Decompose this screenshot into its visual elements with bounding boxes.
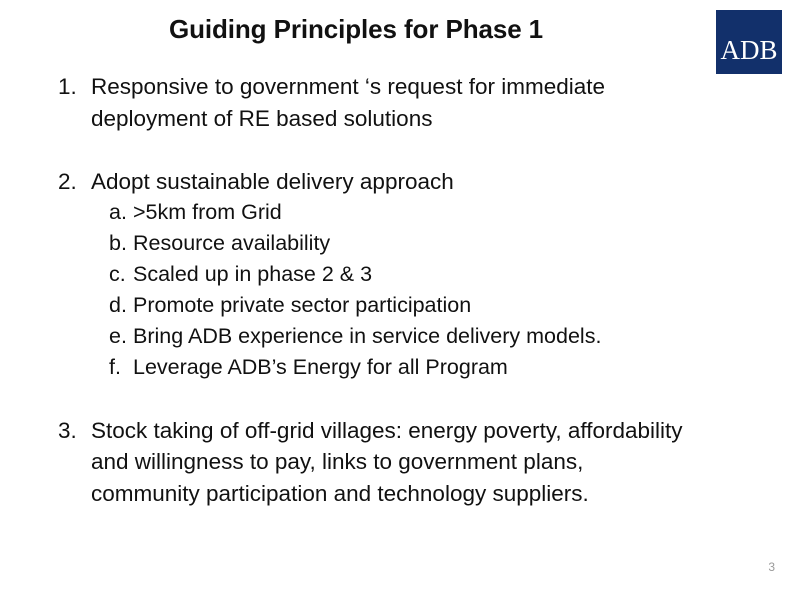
sub-list-item-text: Resource availability [133, 228, 768, 259]
list-item-text: Adopt sustainable delivery approach [91, 166, 768, 198]
sub-list-marker: f. [109, 352, 133, 383]
sub-list-item-text: Leverage ADB’s Energy for all Program [133, 352, 768, 383]
sub-list-marker: b. [109, 228, 133, 259]
list-item-1: 1. Responsive to government ‘s request f… [58, 71, 768, 134]
list-item-line: community participation and technology s… [91, 481, 589, 506]
page-title: Guiding Principles for Phase 1 [0, 14, 712, 45]
sub-list-item-d: d. Promote private sector participation [58, 290, 768, 321]
list-spacer [58, 383, 768, 415]
sub-list-item-text: Bring ADB experience in service delivery… [133, 321, 768, 352]
sub-list-item-e: e. Bring ADB experience in service deliv… [58, 321, 768, 352]
list-spacer [58, 134, 768, 166]
sub-list-item-b: b. Resource availability [58, 228, 768, 259]
sub-list-marker: e. [109, 321, 133, 352]
list-item-text: Stock taking of off-grid villages: energ… [91, 415, 768, 510]
list-item-line: deployment of RE based solutions [91, 106, 432, 131]
list-item-text: Responsive to government ‘s request for … [91, 71, 768, 134]
list-item-line: Responsive to government ‘s request for … [91, 74, 605, 99]
adb-logo: ADB [716, 10, 782, 74]
sub-list-item-2: a. >5km from Grid b. Resource availabili… [58, 197, 768, 383]
sub-list-marker: d. [109, 290, 133, 321]
list-item-line: and willingness to pay, links to governm… [91, 449, 583, 474]
list-marker: 2. [58, 166, 91, 198]
slide-canvas: ADB Guiding Principles for Phase 1 1. Re… [0, 0, 800, 600]
sub-list-item-a: a. >5km from Grid [58, 197, 768, 228]
list-item-line: Stock taking of off-grid villages: energ… [91, 418, 683, 443]
guiding-principles-list: 1. Responsive to government ‘s request f… [58, 71, 768, 509]
list-item-line: Adopt sustainable delivery approach [91, 169, 454, 194]
sub-list-item-text: >5km from Grid [133, 197, 768, 228]
list-item-3: 3. Stock taking of off-grid villages: en… [58, 415, 768, 510]
sub-list-marker: c. [109, 259, 133, 290]
list-item-2: 2. Adopt sustainable delivery approach [58, 166, 768, 198]
sub-list-item-c: c. Scaled up in phase 2 & 3 [58, 259, 768, 290]
sub-list-item-f: f. Leverage ADB’s Energy for all Program [58, 352, 768, 383]
sub-list-item-text: Promote private sector participation [133, 290, 768, 321]
sub-list-item-text: Scaled up in phase 2 & 3 [133, 259, 768, 290]
list-marker: 1. [58, 71, 91, 103]
sub-list-marker: a. [109, 197, 133, 228]
adb-logo-text: ADB [720, 37, 777, 74]
list-marker: 3. [58, 415, 91, 447]
slide-number: 3 [768, 560, 775, 574]
